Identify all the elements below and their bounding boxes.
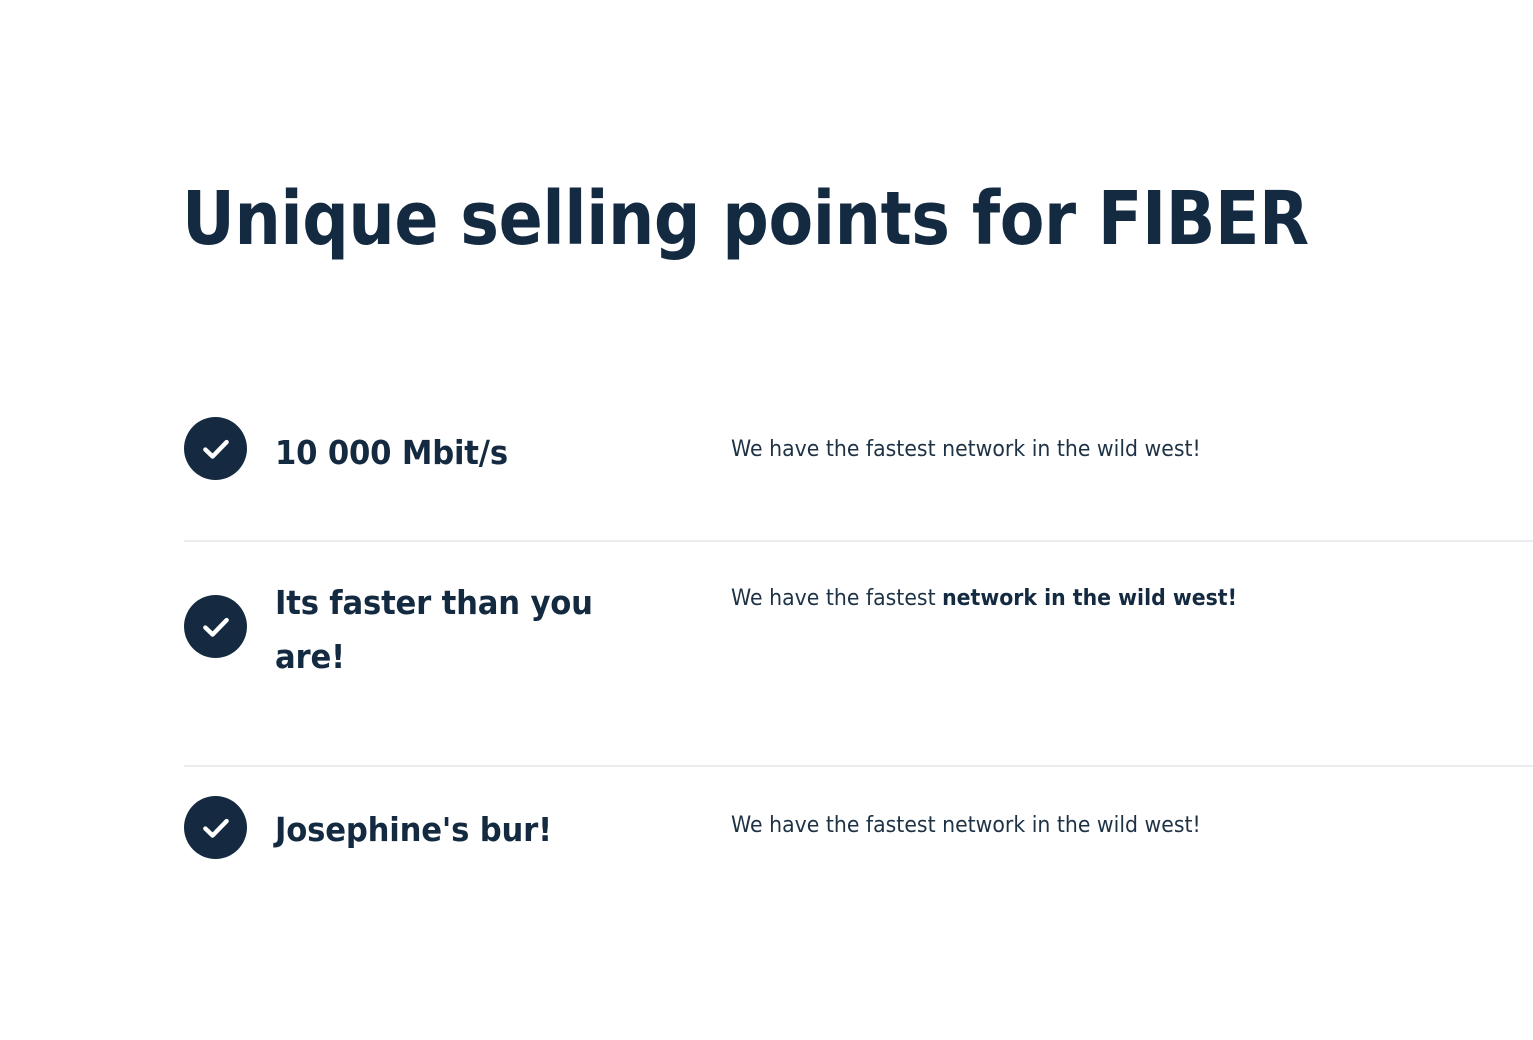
description-text: We have the fastest network in the wild … [731, 437, 1201, 462]
list-item: Josephine's bur! We have the fastest net… [0, 765, 1533, 925]
list-item: Its faster than you are! We have the fas… [0, 540, 1533, 765]
list-item-description: We have the fastest network in the wild … [731, 793, 1308, 843]
list-item-heading: Its faster than you are! [275, 567, 638, 684]
description-text: We have the fastest network in the wild … [731, 813, 1201, 838]
list-item-description: We have the fastest network in the wild … [731, 417, 1308, 467]
check-circle-icon [184, 595, 247, 658]
page-title: Unique selling points for FIBER [182, 175, 1238, 263]
list-item-heading: 10 000 Mbit/s [275, 417, 638, 480]
check-circle-icon [184, 796, 247, 859]
list-item-heading: Josephine's bur! [275, 793, 638, 857]
description-text: We have the fastest [731, 586, 942, 611]
list-item: 10 000 Mbit/s We have the fastest networ… [0, 390, 1533, 540]
usp-list: 10 000 Mbit/s We have the fastest networ… [0, 390, 1533, 925]
list-item-description: We have the fastest network in the wild … [731, 567, 1308, 616]
usp-section: Unique selling points for FIBER 10 000 M… [0, 0, 1533, 1040]
check-circle-icon [184, 417, 247, 480]
description-emphasis: network in the wild west! [942, 586, 1237, 611]
